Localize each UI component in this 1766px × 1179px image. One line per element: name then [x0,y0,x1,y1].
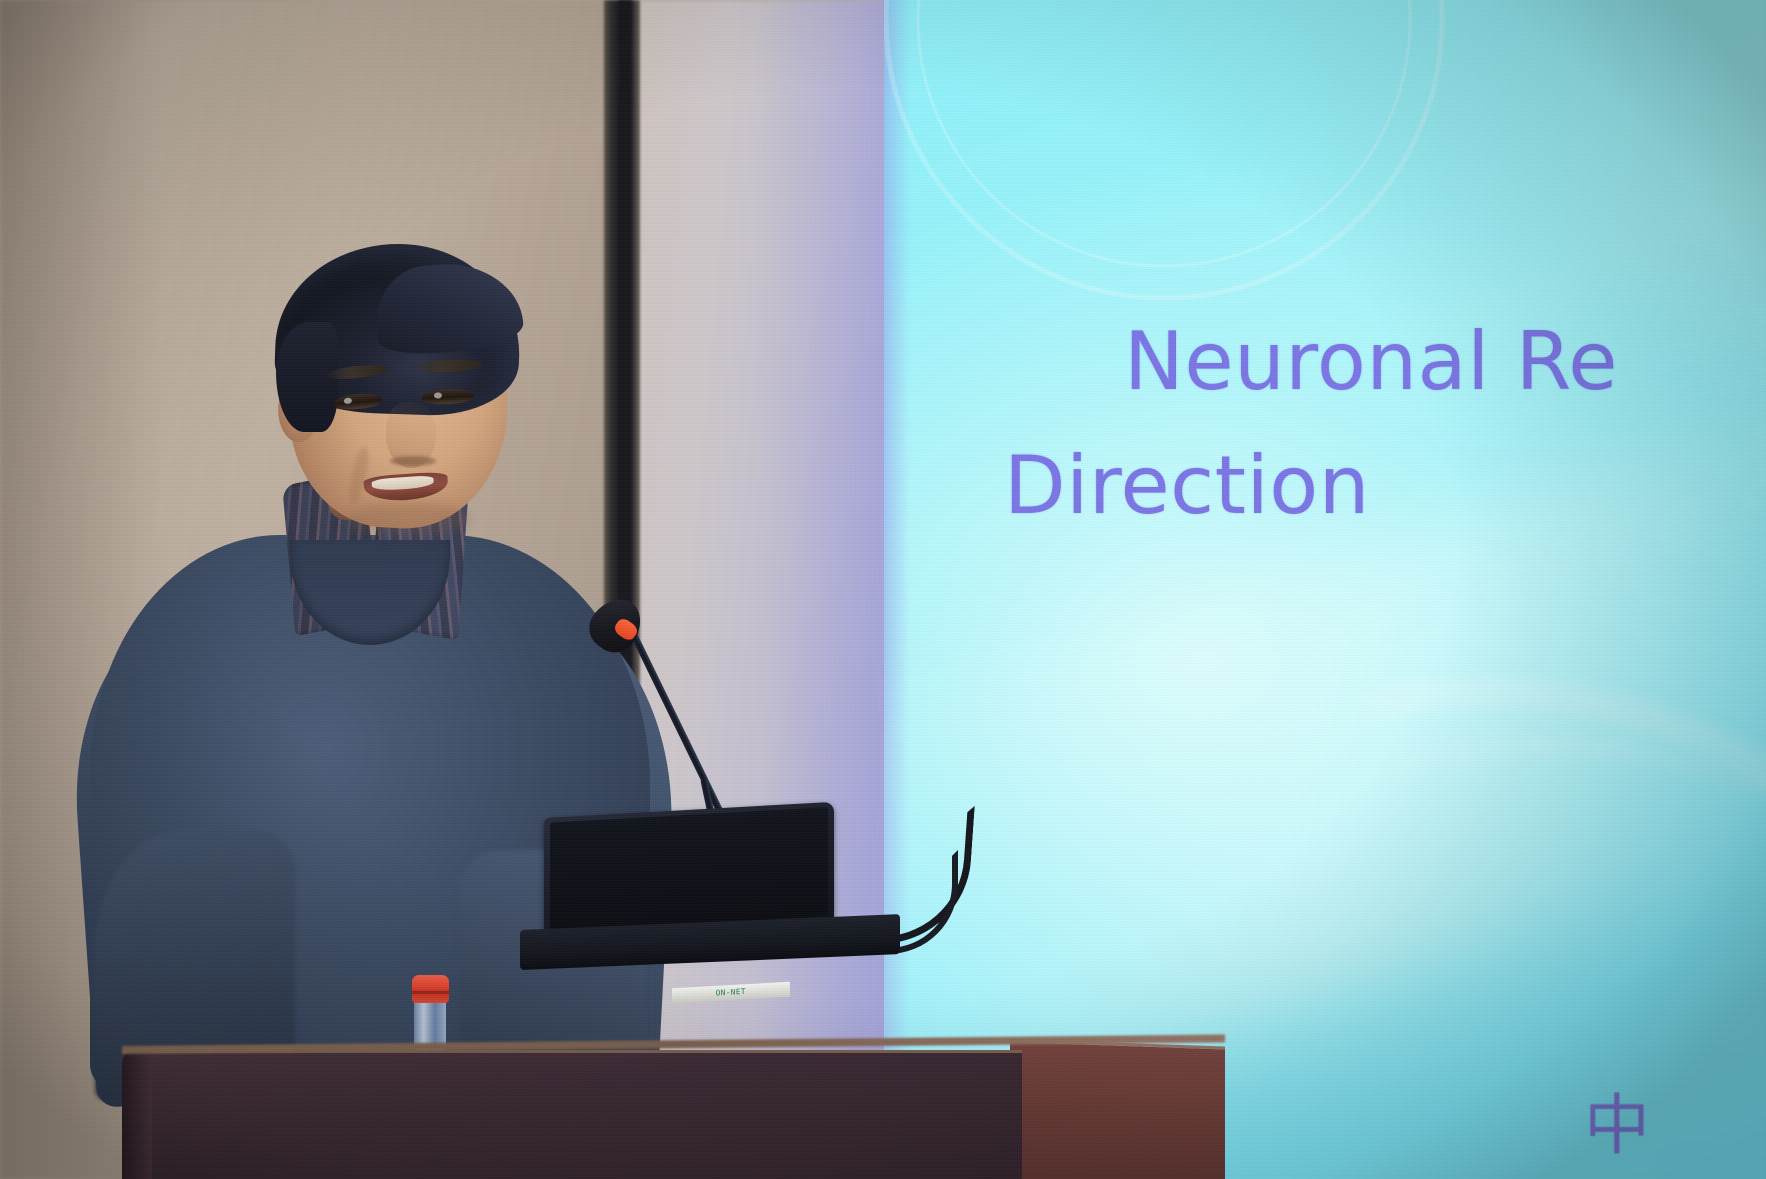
speaker-teeth [371,475,434,491]
speaker-nostrils [390,456,436,466]
eye-highlight [344,398,352,405]
eye-highlight [434,392,442,398]
water-bottle-cap-seam [412,991,449,994]
laptop-sticker-text: ON-NET [716,987,746,997]
lectern-right-face [1010,1039,1225,1179]
speaker-chin-shadow [346,502,470,536]
laptop-bezel [550,807,828,932]
slide-footer-text: 中 [1584,1072,1650,1168]
lectern-left-corner [122,1050,152,1179]
slide-title-line-1: Neuronal Re [1124,300,1766,424]
slide-title-block: Neuronal Re Direction [1124,300,1766,548]
projection-screen: INSTITUTE OF PSYCHOLOGY Neuronal Re Dire… [884,0,1766,1179]
presentation-photo: INSTITUTE OF PSYCHOLOGY Neuronal Re Dire… [0,0,1766,1179]
water-bottle-cap [412,975,449,1003]
lectern-front-face [122,1050,1022,1179]
slide-title-line-2: Direction [1004,424,1766,548]
